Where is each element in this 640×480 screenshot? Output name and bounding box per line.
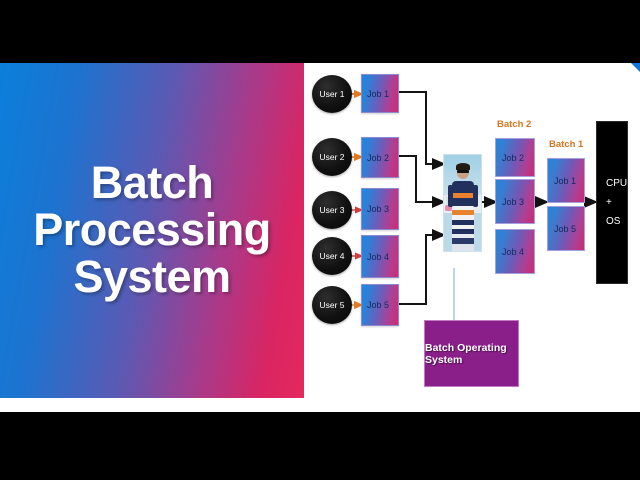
job-box-1[interactable]: Job 1 [361,74,399,113]
diagram-area: User 1 User 2 User 3 User 4 User 5 Job 1… [304,63,640,412]
job-box-4[interactable]: Job 4 [361,235,399,278]
batch2-job-1[interactable]: Job 2 [495,138,535,177]
batch2-job-3[interactable]: Job 4 [495,229,535,274]
corner-triangle-icon [631,63,640,72]
batch1-job-1[interactable]: Job 1 [547,158,585,203]
os-label: OS [606,212,620,231]
title-panel: Batch Processing System [0,63,304,398]
screenshot-canvas: Batch Processing System [0,0,640,480]
job-label: Job 2 [496,153,524,163]
user-label: User 1 [319,89,344,99]
batch2-job-2[interactable]: Job 3 [495,179,535,224]
job-box-2[interactable]: Job 2 [361,137,399,178]
user-node-4[interactable]: User 4 [312,237,352,275]
job-label: Job 4 [496,247,524,257]
slide-content: Batch Processing System [0,63,640,412]
job-label: Job 5 [362,300,389,310]
job-label: Job 1 [548,176,576,186]
user-node-2[interactable]: User 2 [312,138,352,176]
user-label: User 3 [319,205,344,215]
job-box-5[interactable]: Job 5 [361,284,399,326]
caption-label: Batch Operating System [425,342,518,366]
batch-operating-system-caption: Batch Operating System [424,320,519,387]
user-label: User 2 [319,152,344,162]
job-label: Job 3 [362,204,389,214]
user-node-5[interactable]: User 5 [312,286,352,324]
job-label: Job 2 [362,153,389,163]
batch2-label: Batch 2 [497,119,531,130]
batch1-job-2[interactable]: Job 5 [547,206,585,251]
cpu-label: CPU [606,174,627,193]
job-label: Job 4 [362,252,389,262]
batch1-label: Batch 1 [549,139,583,150]
user-node-1[interactable]: User 1 [312,75,352,113]
page-title: Batch Processing System [29,160,275,300]
plus-label: + [606,193,612,212]
job-label: Job 1 [362,89,389,99]
user-label: User 5 [319,300,344,310]
user-label: User 4 [319,251,344,261]
user-node-3[interactable]: User 3 [312,191,352,229]
operator-photo [443,154,482,252]
job-box-3[interactable]: Job 3 [361,188,399,230]
job-label: Job 3 [496,197,524,207]
job-label: Job 5 [548,224,576,234]
cpu-os-box[interactable]: CPU + OS [596,121,628,284]
